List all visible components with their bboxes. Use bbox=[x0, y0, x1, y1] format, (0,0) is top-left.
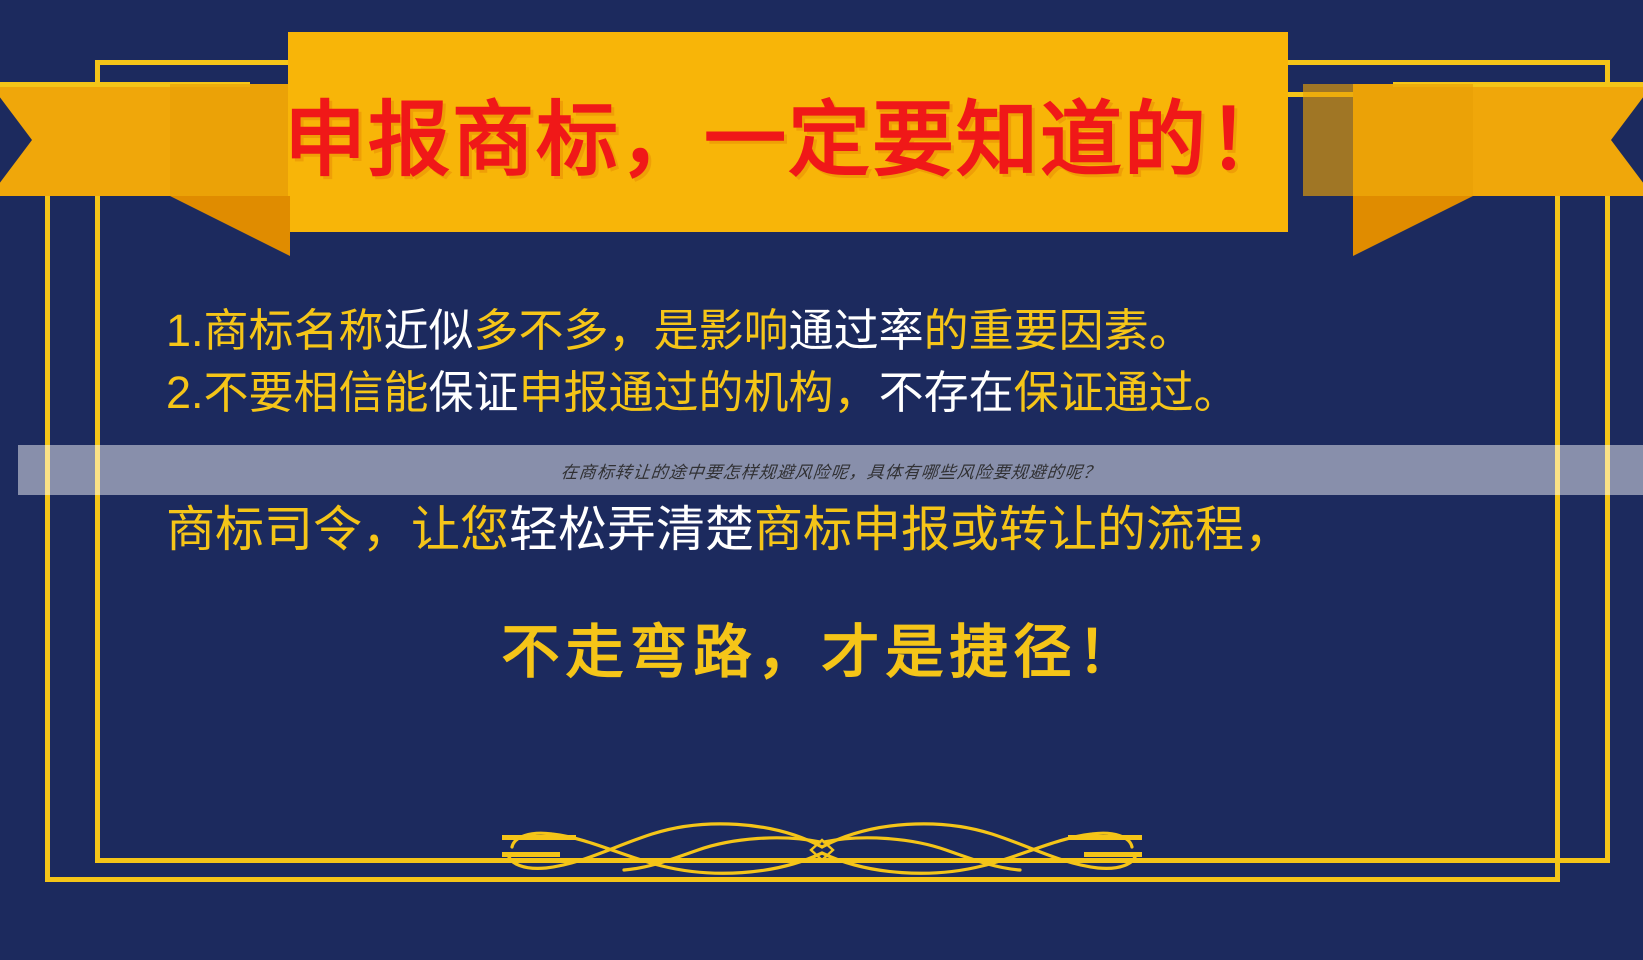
ribbon-fold-left bbox=[170, 196, 290, 256]
slogan-line: 不走弯路，才是捷径！ bbox=[0, 618, 1643, 688]
watermark-text: 在商标转让的途中要怎样规避风险呢，具体有哪些风险要规避的呢？ bbox=[559, 458, 1102, 483]
ribbon-fold-right bbox=[1353, 196, 1473, 256]
point-1-seg-5: 通过率 bbox=[789, 305, 924, 356]
tagline-part-a: 商标司令，让您 bbox=[166, 503, 509, 557]
ribbon-fold-shade-right bbox=[1303, 84, 1473, 196]
banner-title: 申报商标，一定要知道的！ bbox=[288, 32, 1288, 232]
point-1-seg-6: 的重要因素。 bbox=[924, 305, 1194, 356]
flourish-divider-icon bbox=[502, 812, 1142, 882]
point-2-seg-4: 不存在 bbox=[879, 367, 1014, 418]
tagline-part-c: 商标申报或转让的流程， bbox=[754, 503, 1293, 557]
point-1-seg-3: 多不多， bbox=[474, 305, 654, 356]
point-2-seg-3: 申报通过的机构， bbox=[519, 367, 879, 418]
point-1-seg-4: 是影响 bbox=[654, 305, 789, 356]
tagline-line: 商标司令，让您轻松弄清楚商标申报或转让的流程， bbox=[0, 500, 1643, 560]
poster-canvas: 申报商标，一定要知道的！ 1.商标名称近似多不多，是影响通过率的重要因素。 2.… bbox=[0, 0, 1643, 960]
point-1-line: 1.商标名称近似多不多，是影响通过率的重要因素。 bbox=[0, 300, 1643, 362]
point-1-seg-1: 1.商标名称 bbox=[166, 305, 384, 356]
watermark-band: 在商标转让的途中要怎样规避风险呢，具体有哪些风险要规避的呢？ bbox=[18, 445, 1643, 495]
point-2-seg-5: 保证通过。 bbox=[1014, 367, 1239, 418]
ribbon-banner: 申报商标，一定要知道的！ bbox=[0, 18, 1643, 240]
point-2-seg-2: 保证 bbox=[429, 367, 519, 418]
point-2-seg-1: 2.不要相信能 bbox=[166, 367, 429, 418]
point-1-seg-2: 近似 bbox=[384, 305, 474, 356]
tagline-part-b: 轻松弄清楚 bbox=[509, 503, 754, 557]
point-2-line: 2.不要相信能保证申报通过的机构，不存在保证通过。 bbox=[0, 362, 1643, 424]
